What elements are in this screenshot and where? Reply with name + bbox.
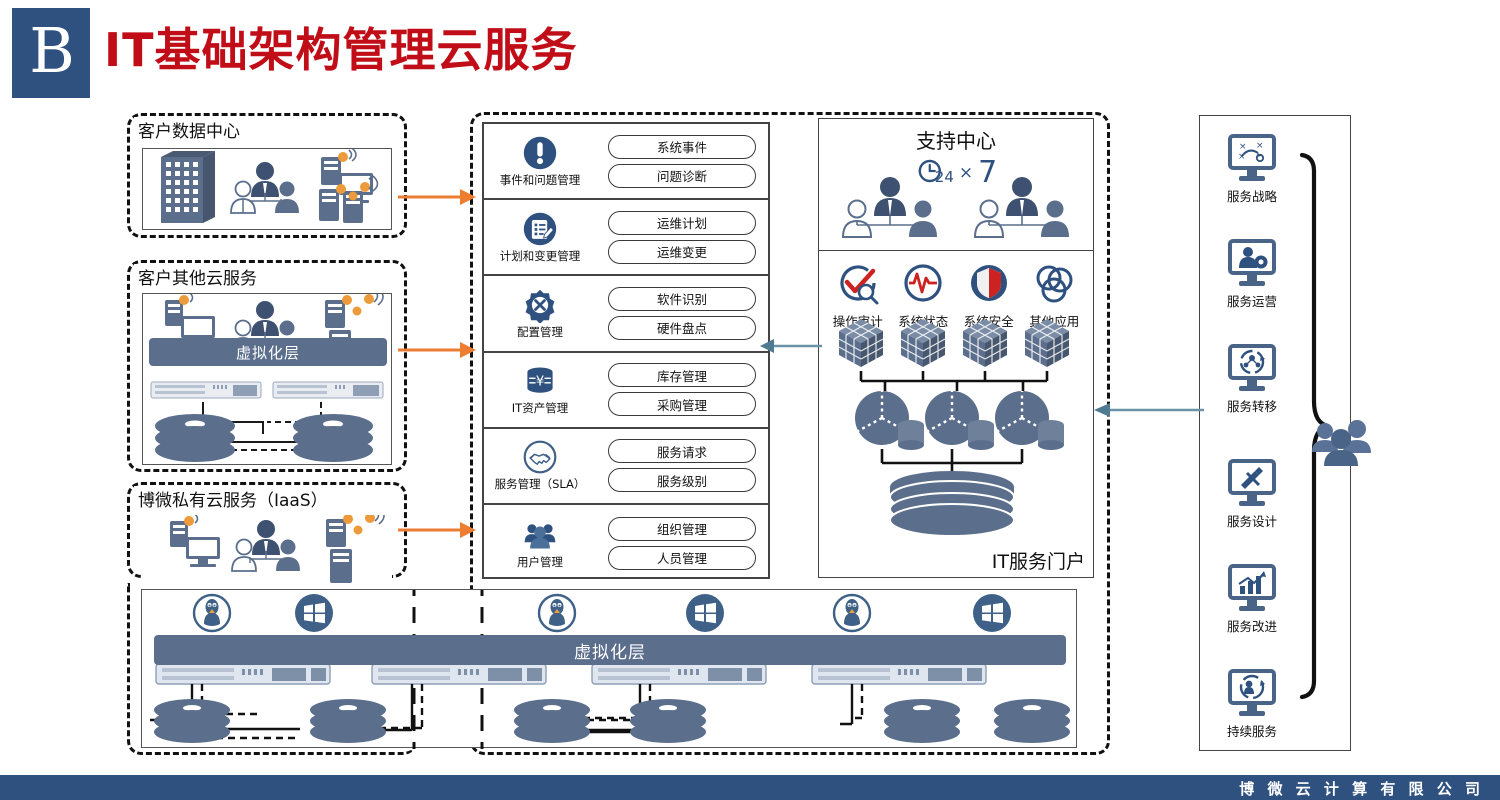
lifecycle-item[interactable]: 服务设计	[1214, 459, 1290, 530]
module-icon-cell: 用户管理	[484, 505, 596, 581]
lifecycle-item[interactable]: 持续服务	[1214, 669, 1290, 740]
arrow-lifecycle-to-portal	[1094, 398, 1204, 422]
clipboard-edit-icon	[522, 211, 558, 247]
slide-canvas: B IT基础架构管理云服务 客户数据中心	[0, 0, 1500, 800]
module-pill-group: 组织管理 人员管理	[596, 517, 768, 570]
module-label: 用户管理	[517, 554, 563, 570]
module-pill[interactable]: 运维变更	[608, 240, 756, 264]
lifecycle-label: 服务设计	[1227, 511, 1277, 530]
panel-private-cloud-iaas-title: 博微私有云服务（IaaS）	[134, 486, 332, 511]
lifecycle-item[interactable]: 服务改进	[1214, 564, 1290, 635]
os-icon-row	[194, 594, 1011, 632]
lifecycle-label: 服务转移	[1227, 396, 1277, 415]
support-team-left-icon	[835, 171, 945, 247]
users-group-icon	[522, 517, 558, 553]
module-pill-group: 系统事件 问题诊断	[596, 135, 768, 188]
database-yen-icon: ¥	[522, 363, 558, 399]
module-label: IT资产管理	[512, 400, 568, 416]
virtualization-layer-bar-cloud: 虚拟化层	[149, 338, 387, 366]
lifecycle-item[interactable]: 服务转移	[1214, 344, 1290, 415]
module-pill[interactable]: 问题诊断	[608, 164, 756, 188]
arrow-cloudservices-to-platform	[398, 338, 478, 362]
module-label: 事件和问题管理	[500, 172, 581, 188]
module-row[interactable]: 配置管理 软件识别 硬件盘点	[484, 276, 768, 352]
logo-monogram: B	[29, 20, 73, 82]
lifecycle-label: 服务改进	[1227, 616, 1277, 635]
infrastructure-band: 虚拟化层	[141, 589, 1077, 748]
lifecycle-label: 服务战略	[1227, 186, 1277, 205]
module-label: 配置管理	[517, 324, 563, 340]
page-title: IT基础架构管理云服务	[104, 14, 578, 80]
monitor-transition-icon	[1225, 344, 1279, 394]
audit-check-magnifier-icon	[834, 259, 882, 307]
module-icon-cell: ¥ IT资产管理	[484, 353, 596, 427]
iaas-illustration	[142, 515, 392, 591]
module-icon-cell: 计划和变更管理	[484, 200, 596, 274]
svg-text:×: ×	[1239, 142, 1247, 152]
module-row[interactable]: 事件和问题管理 系统事件 问题诊断	[484, 124, 768, 200]
module-pill[interactable]: 硬件盘点	[608, 316, 756, 340]
lifecycle-label: 持续服务	[1227, 721, 1277, 740]
lifecycle-item[interactable]: 服务运营	[1214, 239, 1290, 310]
lifecycle-label: 服务运营	[1227, 291, 1277, 310]
arrow-support-to-modules	[760, 334, 822, 358]
virtualization-layer-label-cloud: 虚拟化层	[236, 342, 300, 363]
module-pill[interactable]: 采购管理	[608, 392, 756, 416]
shield-security-icon	[965, 259, 1013, 307]
arrow-datacenter-to-platform	[398, 185, 478, 209]
module-icon-cell: 配置管理	[484, 276, 596, 350]
it-service-portal-label: IT服务门户	[992, 547, 1085, 574]
module-pill[interactable]: 软件识别	[608, 287, 756, 311]
module-pill[interactable]: 库存管理	[608, 363, 756, 387]
infrastructure-illustration	[142, 590, 1078, 749]
server-rack-row	[156, 664, 986, 684]
monitor-design-icon	[1225, 459, 1279, 509]
module-pill-group: 运维计划 运维变更	[596, 211, 768, 264]
lifecycle-item[interactable]: ××× 服务战略	[1214, 134, 1290, 205]
module-pill[interactable]: 运维计划	[608, 211, 756, 235]
support-team-right-icon	[967, 171, 1077, 247]
virtualization-layer-bar-infra: 虚拟化层	[154, 635, 1066, 665]
module-row[interactable]: 用户管理 组织管理 人员管理	[484, 505, 768, 581]
footer-company-name: 博 微 云 计 算 有 限 公 司	[1239, 778, 1484, 799]
svg-text:×: ×	[1256, 141, 1264, 151]
handshake-icon	[522, 439, 558, 475]
datacenter-illustration	[143, 149, 393, 231]
heartbeat-pulse-icon	[899, 259, 947, 307]
svg-text:¥: ¥	[536, 374, 545, 390]
support-center-title: 支持中心	[819, 125, 1093, 154]
arrow-iaas-to-platform	[398, 518, 478, 542]
it-service-portal-architecture	[825, 315, 1089, 547]
module-pill[interactable]: 人员管理	[608, 546, 756, 570]
module-icon-cell: 事件和问题管理	[484, 124, 596, 198]
module-row[interactable]: 服务管理（SLA） 服务请求 服务级别	[484, 429, 768, 505]
panel-private-cloud-iaas-body	[142, 515, 392, 591]
module-row[interactable]: 计划和变更管理 运维计划 运维变更	[484, 200, 768, 276]
monitor-operation-icon	[1225, 239, 1279, 289]
module-icon-cell: 服务管理（SLA）	[484, 429, 596, 503]
support-center-header: 支持中心 24 × 7	[819, 119, 1093, 251]
module-pill-group: 库存管理 采购管理	[596, 363, 768, 416]
module-pill-group: 服务请求 服务级别	[596, 439, 768, 492]
module-pill[interactable]: 服务级别	[608, 468, 756, 492]
support-center-panel: 支持中心 24 × 7	[818, 118, 1094, 578]
monitor-improvement-icon	[1225, 564, 1279, 614]
gear-wrench-icon	[522, 287, 558, 323]
monitor-strategy-icon: ×××	[1225, 134, 1279, 184]
module-label: 计划和变更管理	[500, 248, 581, 264]
module-pill-group: 软件识别 硬件盘点	[596, 287, 768, 340]
panel-customer-cloud-services-title: 客户其他云服务	[134, 264, 261, 289]
service-module-list: 事件和问题管理 系统事件 问题诊断 计划和变更管理	[482, 122, 770, 579]
panel-customer-datacenter-body	[142, 148, 392, 230]
module-pill[interactable]: 服务请求	[608, 439, 756, 463]
cloud-rings-icon	[1030, 259, 1078, 307]
people-group-icon	[1310, 418, 1372, 468]
panel-customer-cloud-services-body: 虚拟化层	[142, 293, 392, 465]
exclamation-circle-icon	[522, 135, 558, 171]
panel-customer-datacenter-title: 客户数据中心	[134, 117, 244, 142]
module-pill[interactable]: 组织管理	[608, 517, 756, 541]
module-label: 服务管理（SLA）	[495, 476, 586, 492]
virtualization-layer-label-infra: 虚拟化层	[574, 638, 646, 663]
company-logo: B	[12, 8, 90, 98]
cloud-services-illustration	[143, 294, 393, 466]
module-row[interactable]: ¥ IT资产管理 库存管理 采购管理	[484, 353, 768, 429]
module-pill[interactable]: 系统事件	[608, 135, 756, 159]
monitor-continual-icon	[1225, 669, 1279, 719]
